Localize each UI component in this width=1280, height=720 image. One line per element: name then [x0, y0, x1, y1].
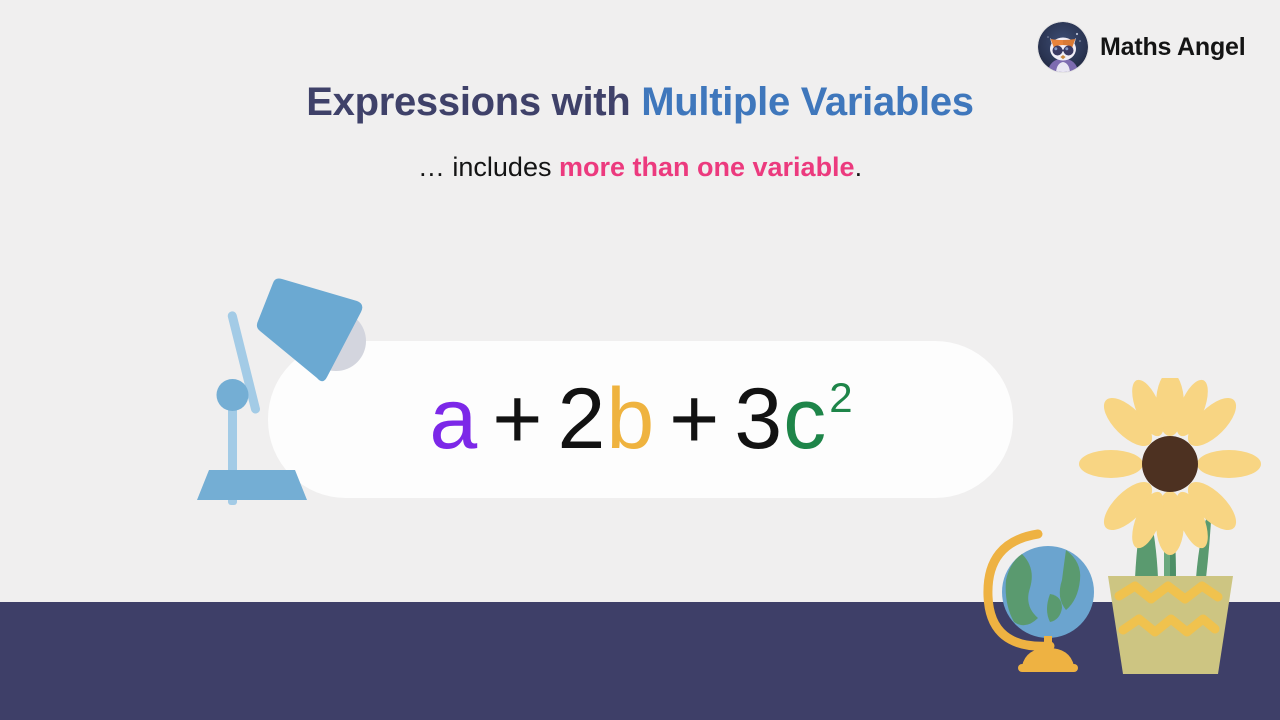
slide-canvas: Maths Angel Expressions with Multiple Va…	[0, 0, 1280, 720]
operator-1: +	[478, 370, 557, 469]
page-subtitle: … includes more than one variable.	[0, 152, 1280, 183]
term-3-variable: c	[783, 370, 827, 469]
term-3-coefficient: 3	[734, 370, 783, 469]
term-1-variable: a	[429, 370, 478, 469]
page-title: Expressions with Multiple Variables	[0, 80, 1280, 125]
subtitle-highlight: more than one variable	[559, 152, 855, 182]
brand-name: Maths Angel	[1100, 33, 1246, 62]
subtitle-lead: … includes	[418, 152, 559, 182]
page-title-lead: Expressions with	[306, 80, 641, 124]
brand-logo[interactable]: Maths Angel	[1038, 22, 1246, 72]
globe-illustration	[978, 518, 1118, 683]
term-2-coefficient: 2	[557, 370, 606, 469]
cat-avatar-icon	[1038, 22, 1088, 72]
term-2-variable: b	[606, 370, 655, 469]
subtitle-trailing: .	[855, 152, 863, 182]
operator-2: +	[655, 370, 734, 469]
expression-text: a + 2b + 3c2	[268, 341, 1013, 498]
page-title-accent: Multiple Variables	[641, 80, 974, 124]
